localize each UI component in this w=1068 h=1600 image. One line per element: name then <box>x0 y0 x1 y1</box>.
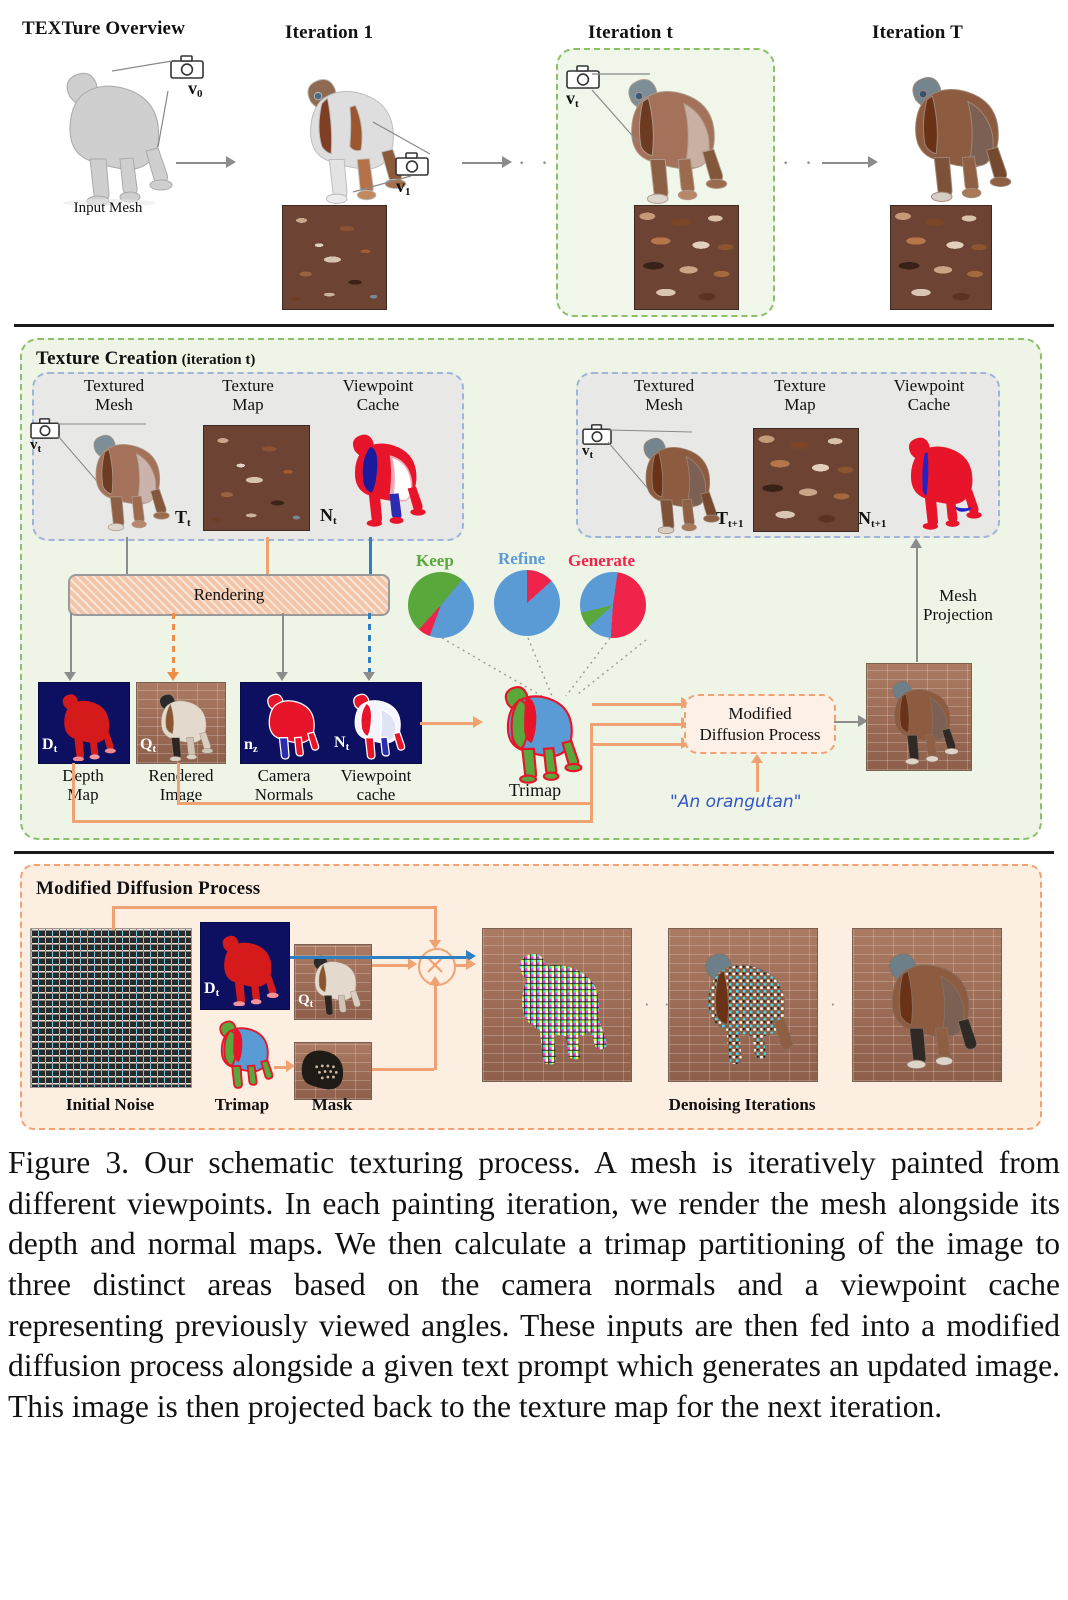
right-texture-map-symbol: Tt+1 <box>716 508 743 530</box>
conn-render-feedback-riser <box>177 763 180 805</box>
denoise-step-1-image <box>482 928 632 1082</box>
conn-trimap-mdp-2 <box>592 723 684 726</box>
conn-trimap-mdp-3 <box>592 743 684 746</box>
left-texture-map-title: TextureMap <box>192 376 304 414</box>
left-textured-mesh-model <box>70 420 178 532</box>
left-texture-map-image <box>203 425 310 531</box>
conn-depth-feedback <box>72 820 592 823</box>
overview-arrow-1-head <box>226 156 236 168</box>
initial-noise-label: Initial Noise <box>32 1095 188 1114</box>
conn-cache-to-render <box>369 537 372 574</box>
texture-creation-subtitle: (iteration t) <box>182 352 256 368</box>
overview-arrow-1 <box>176 162 228 164</box>
camera-vt-right-label: vt <box>582 443 593 461</box>
initial-noise-image <box>30 928 192 1088</box>
conn-render-cache-head <box>363 672 375 681</box>
conn-render-rendered <box>172 613 175 675</box>
rendered-image-symbol: Qt <box>140 736 156 755</box>
pie-keep <box>408 572 474 638</box>
conn-render-feedback <box>177 802 592 805</box>
camera-normals-symbol: nz <box>244 736 258 755</box>
left-viewpoint-cache-title: ViewpointCache <box>322 376 434 414</box>
camera-vt-overview-label: vt <box>566 88 579 110</box>
conn-trimap-to-mask-head <box>286 1060 295 1072</box>
iteration-1-texture-map <box>282 205 387 310</box>
conn-mask-to-mul <box>372 1068 434 1071</box>
overview-arrow-3 <box>822 162 870 164</box>
input-mesh-label: Input Mesh <box>58 200 158 217</box>
overview-ellipsis-1: · · <box>518 152 553 174</box>
conn-mesh-to-render <box>126 537 128 574</box>
camera-v0-frustum <box>110 55 220 155</box>
conn-normals-to-trimap <box>420 722 476 725</box>
iteration-t-title: Iteration t <box>588 22 673 44</box>
legend-keep-label: Keep <box>416 551 454 571</box>
overview-ellipsis-2: · · <box>782 152 817 174</box>
pie-generate <box>580 572 646 638</box>
left-viewpoint-cache-model <box>330 418 434 530</box>
conn-texmap-to-render <box>266 537 269 574</box>
diffusion-title: Modified Diffusion Process <box>36 878 260 900</box>
left-texture-map-symbol: Tt <box>175 507 191 529</box>
overview-arrow-3-head <box>868 156 878 168</box>
mdp-line2: Diffusion Process <box>699 724 820 745</box>
divider-bottom <box>14 851 1054 854</box>
depth-map-symbol: Dt <box>42 736 57 755</box>
conn-mask-to-mul-riser <box>434 984 437 1070</box>
conn-prompt-to-mdp-head <box>751 754 763 763</box>
conn-render-depth <box>70 613 72 675</box>
denoise-step-3-image <box>852 928 1002 1082</box>
overview-title: TEXTure Overview <box>22 18 185 40</box>
generated-result-image <box>866 663 972 771</box>
conn-render-normals-head <box>276 672 288 681</box>
conn-trimap-mdp-1 <box>592 703 684 706</box>
text-prompt: "An orangutan" <box>670 792 801 812</box>
iteration-t-texture-map <box>634 205 739 310</box>
conn-noise-up <box>112 906 115 930</box>
viewpoint-cache-out-symbol: Nt <box>334 734 349 753</box>
mesh-projection-label: MeshProjection <box>898 586 1018 624</box>
right-textured-mesh-title: TexturedMesh <box>608 376 720 414</box>
texture-creation-title-row: Texture Creation (iteration t) <box>36 348 255 370</box>
overview-arrow-2-head <box>502 156 512 168</box>
normals-cache-image <box>240 682 422 764</box>
denoise-step-2-image <box>668 928 818 1082</box>
conn-depth-feedback-riser <box>72 763 75 823</box>
iteration-T-title: Iteration T <box>872 22 963 44</box>
diffusion-trimap-model <box>198 1012 286 1090</box>
divider-top <box>14 324 1054 327</box>
camera-v1-frustum <box>335 110 445 200</box>
right-textured-mesh-model <box>620 424 728 534</box>
mask-image <box>294 1042 372 1100</box>
right-texture-map-title: TextureMap <box>744 376 856 414</box>
conn-render-to-mul-head <box>408 958 417 970</box>
left-viewpoint-cache-symbol: Nt <box>320 505 337 527</box>
mdp-line1: Modified <box>728 703 791 724</box>
conn-render-depth-head <box>64 672 76 681</box>
camera-vt-left-label: vt <box>30 437 41 455</box>
conn-noise-top <box>112 906 436 909</box>
iteration-T-texture-map <box>890 205 992 310</box>
conn-depth-blue <box>290 956 472 959</box>
iteration-T-mesh <box>882 58 1022 203</box>
trimap-model <box>482 672 590 784</box>
right-texture-map-image <box>753 428 859 532</box>
overview-arrow-2 <box>462 162 504 164</box>
diffusion-rendered-symbol: Qt <box>298 992 313 1010</box>
conn-mesh-projection-head <box>910 538 922 548</box>
camera-vt-frustum <box>588 66 678 156</box>
conn-render-cache <box>368 613 371 675</box>
right-viewpoint-cache-symbol: Nt+1 <box>858 508 886 530</box>
conn-mul-to-denoise-head <box>466 958 476 970</box>
modified-diffusion-process-box[interactable]: Modified Diffusion Process <box>684 694 836 754</box>
viewpoint-cache-out-caption: Viewpointcache <box>320 766 432 804</box>
figure-3-diagram: TEXTure Overview Iteration 1 Iteration t… <box>0 0 1068 1135</box>
conn-render-feedback-drop <box>590 744 593 804</box>
rendering-box[interactable]: Rendering <box>68 574 390 616</box>
texture-creation-title: Texture Creation <box>36 348 178 369</box>
conn-prompt-to-mdp <box>756 762 759 792</box>
diffusion-depth-symbol: Dt <box>204 980 219 999</box>
conn-render-normals <box>282 613 284 675</box>
left-textured-mesh-title: TexturedMesh <box>58 376 170 414</box>
denoising-iterations-label: Denoising Iterations <box>612 1095 872 1114</box>
rendered-image-caption: RenderedImage <box>122 766 240 804</box>
pie-refine <box>494 570 560 636</box>
legend-generate-label: Generate <box>568 551 635 571</box>
right-viewpoint-cache-model <box>886 422 990 532</box>
conn-noise-down-head <box>429 940 441 949</box>
right-viewpoint-cache-title: ViewpointCache <box>872 376 986 414</box>
trimap-label: Trimap <box>480 780 590 800</box>
conn-render-to-mul <box>372 964 412 967</box>
diffusion-trimap-label: Trimap <box>194 1095 290 1114</box>
mask-label: Mask <box>290 1095 374 1114</box>
conn-mask-to-mul-head <box>429 976 441 985</box>
legend-refine-label: Refine <box>498 549 545 569</box>
conn-render-rendered-head <box>167 672 179 681</box>
iteration-1-title: Iteration 1 <box>285 22 373 44</box>
rendering-label: Rendering <box>194 585 265 605</box>
figure-caption: Figure 3. Our schematic texturing proces… <box>8 1143 1060 1427</box>
